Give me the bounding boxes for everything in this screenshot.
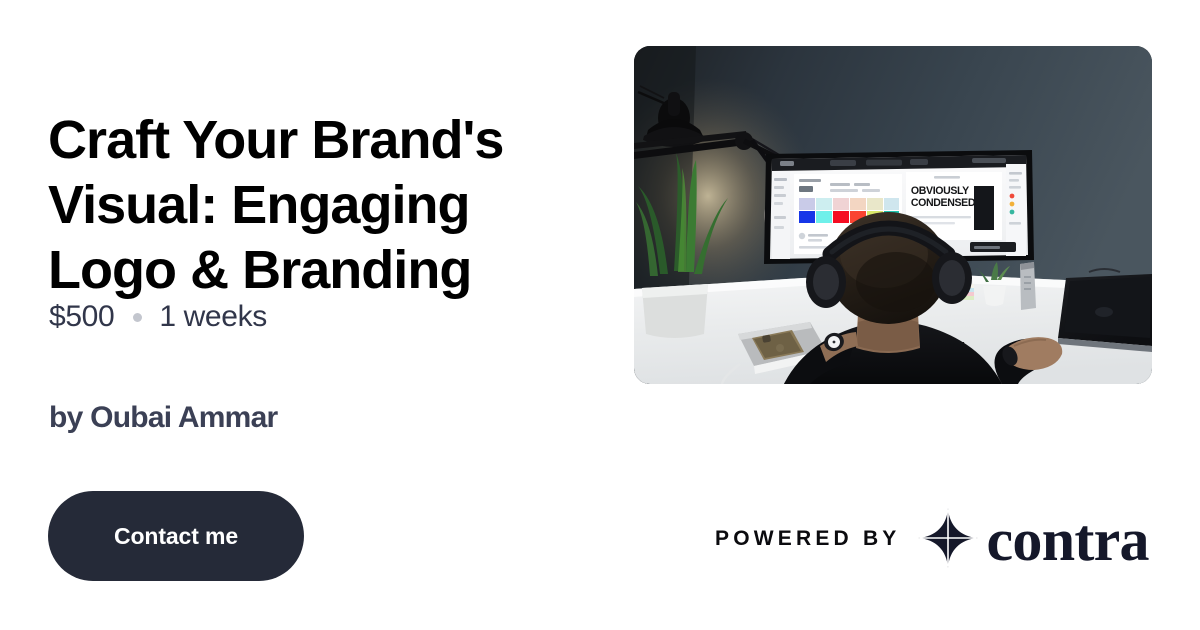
- powered-by-contra: POWERED BY contra: [715, 512, 1149, 564]
- project-cover-photo: OBVIOUSLY CONDENSED: [634, 46, 1152, 384]
- contact-me-button[interactable]: Contact me: [48, 491, 304, 581]
- contra-wordmark: contra: [987, 510, 1149, 570]
- contra-four-point-star-icon: [917, 507, 979, 569]
- svg-text:OBVIOUSLY: OBVIOUSLY: [911, 185, 970, 197]
- project-meta: $500 1 weeks: [49, 300, 267, 334]
- author-name: Oubai Ammar: [90, 401, 277, 434]
- project-share-card: Craft Your Brand's Visual: Engaging Logo…: [0, 0, 1200, 630]
- byline-prefix: by: [49, 401, 83, 434]
- page-title: Craft Your Brand's Visual: Engaging Logo…: [48, 108, 588, 302]
- project-details-column: Craft Your Brand's Visual: Engaging Logo…: [48, 0, 608, 630]
- powered-by-label: POWERED BY: [715, 528, 901, 549]
- svg-text:CONDENSED: CONDENSED: [911, 197, 976, 209]
- workspace-photo-illustration: OBVIOUSLY CONDENSED: [634, 46, 1152, 384]
- meta-separator-dot: [133, 313, 142, 322]
- author-byline: by Oubai Ammar: [49, 401, 277, 435]
- project-duration: 1 weeks: [159, 300, 267, 334]
- project-price: $500: [49, 300, 114, 334]
